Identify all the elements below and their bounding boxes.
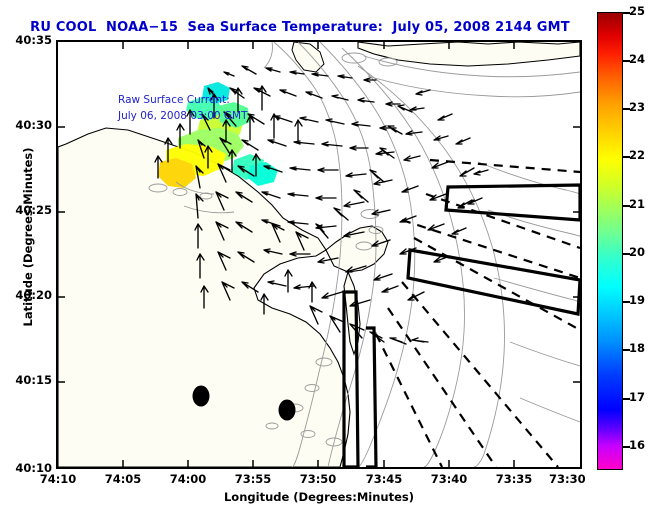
- xtick-8: 73:30: [549, 472, 595, 486]
- xtick-5: 73:45: [354, 472, 414, 486]
- map-plot-area: Raw Surface Current: July 06, 2008 03:00…: [56, 40, 582, 469]
- cbar-label-24: 24: [629, 52, 645, 66]
- ytick-4: 40:15: [4, 373, 52, 387]
- annotation-line-2: July 06, 2008 03:00 GMT: [118, 110, 248, 122]
- annotation-line-1: Raw Surface Current:: [118, 94, 230, 106]
- xtick-1: 74:05: [93, 472, 153, 486]
- cbar-label-16: 16: [629, 438, 645, 452]
- sst-map-figure: RU COOL NOAA−15 Sea Surface Temperature:…: [0, 0, 651, 518]
- cbar-label-22: 22: [629, 148, 645, 162]
- cbar-label-20: 20: [629, 245, 645, 259]
- xtick-6: 73:40: [419, 472, 479, 486]
- xtick-3: 73:55: [223, 472, 283, 486]
- cbar-label-25: 25: [629, 4, 645, 18]
- cbar-label-19: 19: [629, 293, 645, 307]
- station-marker-1[interactable]: [193, 386, 210, 407]
- figure-title: RU COOL NOAA−15 Sea Surface Temperature:…: [0, 20, 600, 35]
- cbar-label-17: 17: [629, 390, 645, 404]
- cbar-label-23: 23: [629, 100, 645, 114]
- cbar-label-18: 18: [629, 341, 645, 355]
- xtick-2: 74:00: [158, 472, 218, 486]
- xtick-0: 74:10: [28, 472, 88, 486]
- cbar-label-21: 21: [629, 197, 645, 211]
- xtick-7: 73:35: [484, 472, 544, 486]
- temperature-colorbar: [597, 12, 623, 470]
- y-axis-title: Latitude (Degrees:Minutes): [21, 117, 35, 357]
- station-marker-2[interactable]: [279, 400, 296, 421]
- xtick-4: 73:50: [288, 472, 348, 486]
- ytick-0: 40:35: [4, 33, 52, 47]
- x-axis-title: Longitude (Degrees:Minutes): [56, 490, 582, 504]
